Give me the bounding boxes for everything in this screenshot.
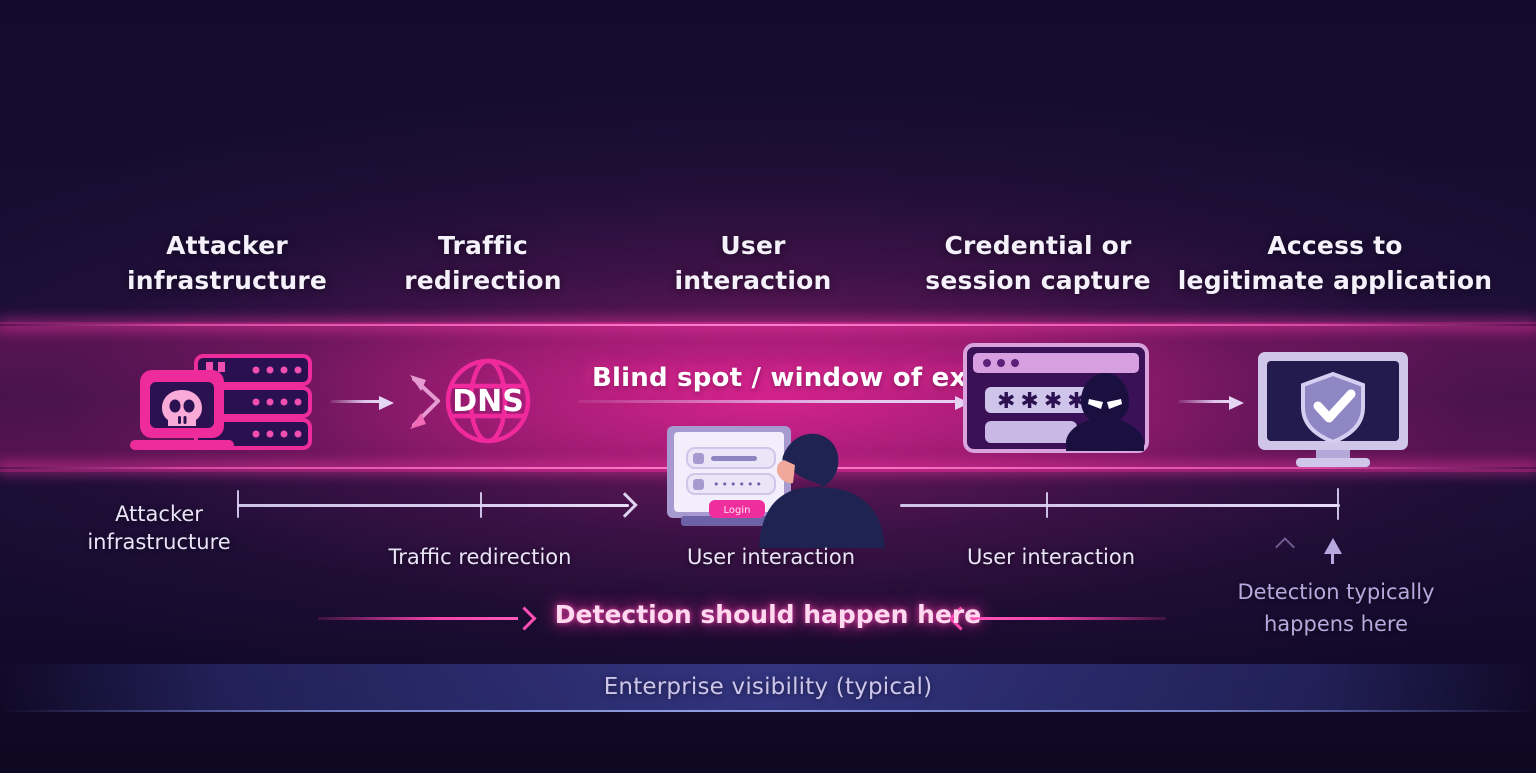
- timeline-axis-left: [237, 504, 629, 507]
- dns-globe-icon: DNS: [408, 355, 568, 447]
- band-glow-line-top: [0, 324, 1536, 326]
- timeline-tick-traffic: [480, 492, 482, 518]
- timeline-arrowhead-left: [612, 492, 637, 517]
- stage-header-credential-session-capture: Credential orsession capture: [906, 228, 1170, 298]
- detection-typical-arrow-stem: [1331, 550, 1334, 564]
- skull-laptop-server-icon: [128, 348, 320, 458]
- timeline-label-attacker-infrastructure: Attackerinfrastructure: [34, 500, 284, 556]
- flow-arrow-dns-to-capture: [578, 396, 970, 406]
- monitor-shield-check-icon: [1254, 350, 1412, 468]
- stage-header-access-legitimate-application: Access tolegitimate application: [1176, 228, 1494, 298]
- flow-arrow-attacker-to-dns: [330, 396, 394, 406]
- timeline-axis-right: [900, 504, 1340, 507]
- timeline-label-user-interaction-2: User interaction: [940, 543, 1162, 571]
- timeline-label-user-interaction-1: User interaction: [660, 543, 882, 571]
- password-mask-text: ✱✱✱✱: [997, 389, 1091, 414]
- stage-header-attacker-infrastructure: Attackerinfrastructure: [106, 228, 348, 298]
- flow-arrow-capture-to-app: [1178, 396, 1244, 406]
- timeline-tick-capture: [1046, 492, 1048, 518]
- detection-typically-happens-label: Detection typicallyhappens here: [1186, 576, 1486, 640]
- hooded-attacker-browser-password-icon: ✱✱✱✱: [963, 343, 1149, 461]
- enterprise-visibility-label: Enterprise visibility (typical): [0, 674, 1536, 700]
- detection-typical-chevron-icon: [1275, 537, 1295, 557]
- dns-globe-label: DNS: [452, 384, 524, 419]
- timeline-label-traffic-redirection: Traffic redirection: [360, 543, 600, 571]
- stage-header-traffic-redirection: Trafficredirection: [378, 228, 588, 298]
- timeline-tick-end: [1337, 488, 1339, 520]
- infographic-canvas: Attackerinfrastructure Trafficredirectio…: [0, 0, 1536, 773]
- stage-header-user-interaction: Userinteraction: [650, 228, 856, 298]
- stage-header-row: Attackerinfrastructure Trafficredirectio…: [0, 228, 1536, 308]
- enterprise-visibility-underline: [0, 710, 1536, 712]
